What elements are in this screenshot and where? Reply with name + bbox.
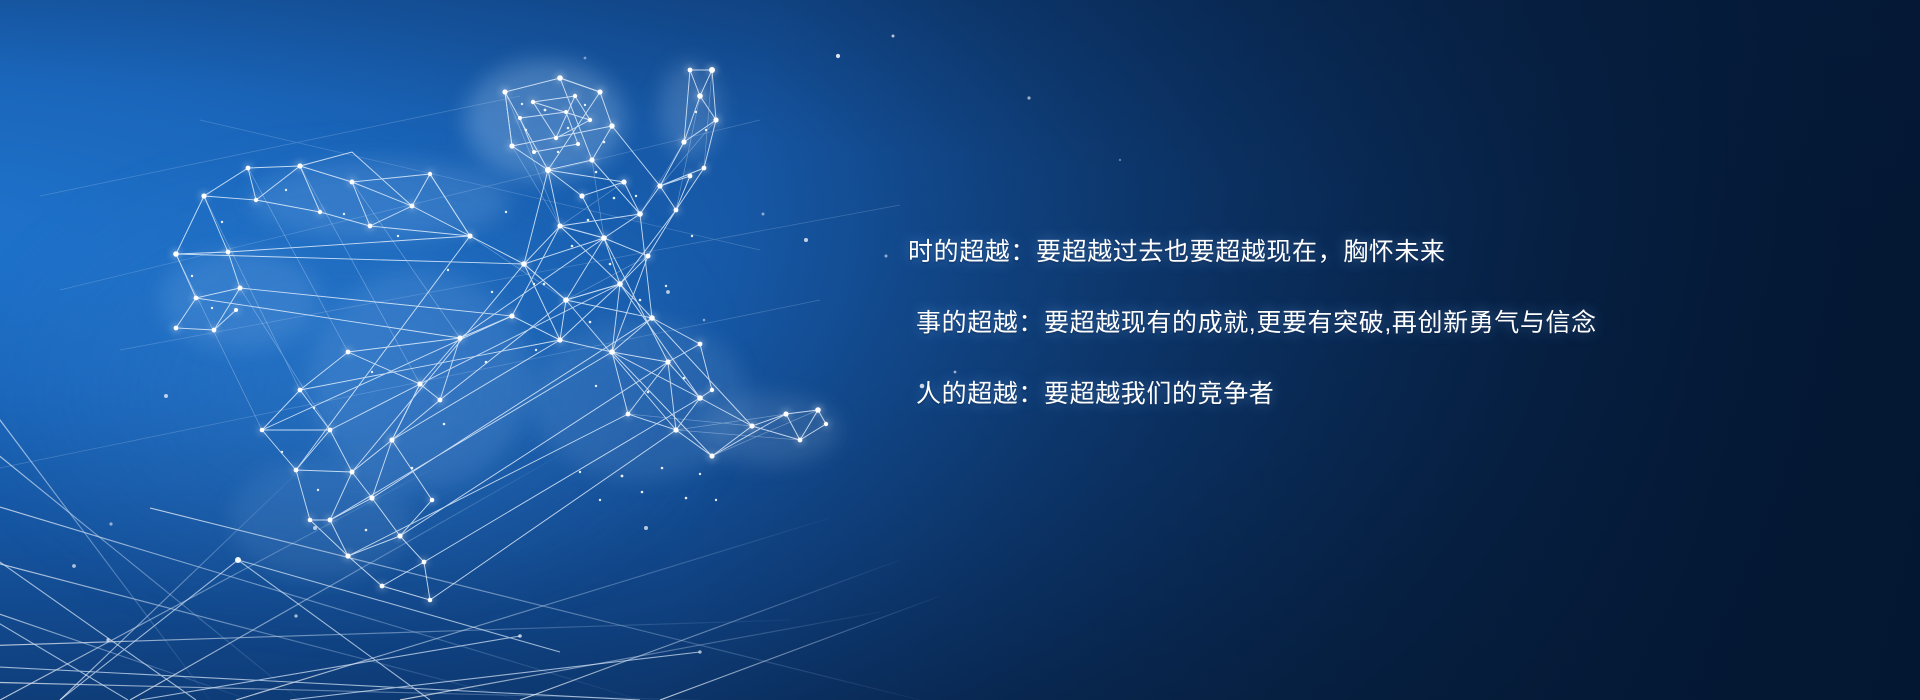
tagline-matter: 事的超越：要超越现有的成就,更要有突破,再创新勇气与信念 bbox=[916, 307, 1768, 339]
hero-banner: 时的超越：要超越过去也要超越现在，胸怀未来 事的超越：要超越现有的成就,更要有突… bbox=[0, 0, 1920, 700]
tagline-people: 人的超越：要超越我们的竞争者 bbox=[916, 378, 1768, 410]
tagline-time: 时的超越：要超越过去也要超越现在，胸怀未来 bbox=[908, 236, 1768, 268]
tagline-block: 时的超越：要超越过去也要超越现在，胸怀未来 事的超越：要超越现有的成就,更要有突… bbox=[908, 236, 1768, 410]
